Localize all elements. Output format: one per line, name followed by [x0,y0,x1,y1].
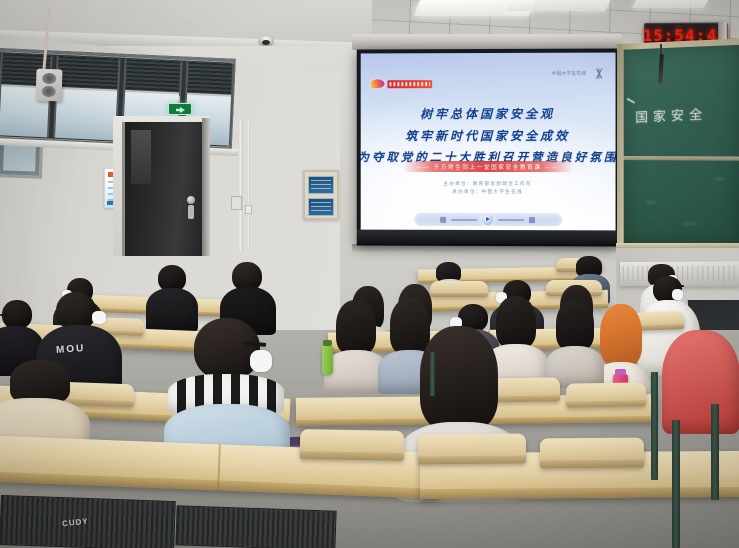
torso [146,288,198,332]
slide-title-block: 树牢总体国家安全观 筑牢新时代国家安全成效 为夺取党的二十大胜利召开营造良好氛围 [361,105,616,165]
slide-title-line-1: 树牢总体国家安全观 [420,105,555,122]
wall-conduit [247,120,250,250]
hair [556,300,594,350]
hair [390,298,430,354]
chalk-smudge [714,177,724,180]
control-panel-display [308,198,334,216]
bench-row-5 [418,434,526,465]
classroom-photo: 中国大学生在线 树牢总体国家安全观 筑牢新时代国家安全成效 为夺取党的二十大胜利… [0,0,739,548]
desk-leg [711,404,719,500]
classroom-door[interactable] [122,122,202,256]
face-mask [250,350,272,372]
window-blinds [187,62,232,97]
slide-credits: 主办单位：教育部思想政治工作司 承办单位：中国大学生在线 [443,180,531,196]
door-window [131,130,151,184]
torso [662,330,739,434]
bench-row-4 [566,382,646,407]
green-water-bottle [322,345,333,375]
bench-row-5 [300,429,405,461]
junction-box [245,205,252,214]
window-blinds [125,59,180,94]
hair [336,300,376,354]
blackboard-frame: 国家安全 [617,38,739,254]
hair-dyed [600,304,642,366]
wall-speaker-icon [35,69,62,102]
watermark-logo-icon [590,69,608,79]
wall-conduit [238,120,243,250]
window-blinds [57,56,118,91]
wall-control-panel[interactable] [303,170,339,220]
projected-slide: 中国大学生在线 树牢总体国家安全观 筑牢新时代国家安全成效 为夺取党的二十大胜利… [361,53,616,231]
glasses-icon [0,314,12,316]
frosted-glass [55,87,117,141]
logo-mark-icon [371,79,385,88]
hair [496,296,536,348]
slide-credit-line-2: 承办单位：中国大学生在线 [443,188,531,196]
fullscreen-icon[interactable] [529,217,535,223]
green-chalkboard: 国家安全 [624,45,739,248]
projector-screen-housing [352,34,622,50]
emergency-exit-sign-icon [168,103,192,115]
bench-row-5 [540,438,644,469]
jacket-print: MOU [56,343,86,356]
screen-shadow [352,244,623,253]
face-mask [92,311,106,324]
slide-watermark-text: 中国大学生在线 [552,71,587,77]
chalk-smudge [645,201,657,204]
ceiling-light-panel [505,0,610,11]
chalk-smudge [681,222,697,226]
progress-bar[interactable] [451,218,477,220]
chalkboard-divider [624,156,739,161]
play-icon[interactable] [482,214,493,225]
head [194,318,260,380]
video-player-bar[interactable] [414,213,562,226]
slide-subtitle: —— 千万师生同上一堂国家安全教育课 —— [402,161,573,172]
bench-row-2 [430,281,488,297]
desk-leg [651,372,658,480]
projector-screen[interactable]: 中国大学生在线 树牢总体国家安全观 筑牢新时代国家安全成效 为夺取党的二十大胜利… [357,48,620,246]
slide-title-line-2: 筑牢新时代国家安全成效 [405,127,570,144]
ceiling-light-panel [632,0,708,8]
face-mask [672,289,683,300]
chalk-stroke [627,98,635,103]
desk-leg [430,352,435,396]
ceiling-dome-camera-icon [259,36,273,45]
progress-bar[interactable] [498,219,524,221]
slide-credit-line-1: 主办单位：教育部思想政治工作司 [443,180,531,188]
control-panel-display [308,176,334,194]
slide-watermark: 中国大学生在线 [552,69,609,79]
rewind-icon[interactable] [440,216,446,222]
door-handle-icon[interactable] [187,196,195,204]
chalkboard-text: 国家安全 [635,103,707,126]
slide-event-logo [371,78,433,89]
logo-ribbon [387,80,432,88]
under-desk-basket [175,505,336,548]
window-pane [53,56,121,141]
glasses-icon [674,285,684,287]
junction-box [231,196,242,210]
door-jamb [202,118,210,256]
desk-leg [672,420,680,548]
